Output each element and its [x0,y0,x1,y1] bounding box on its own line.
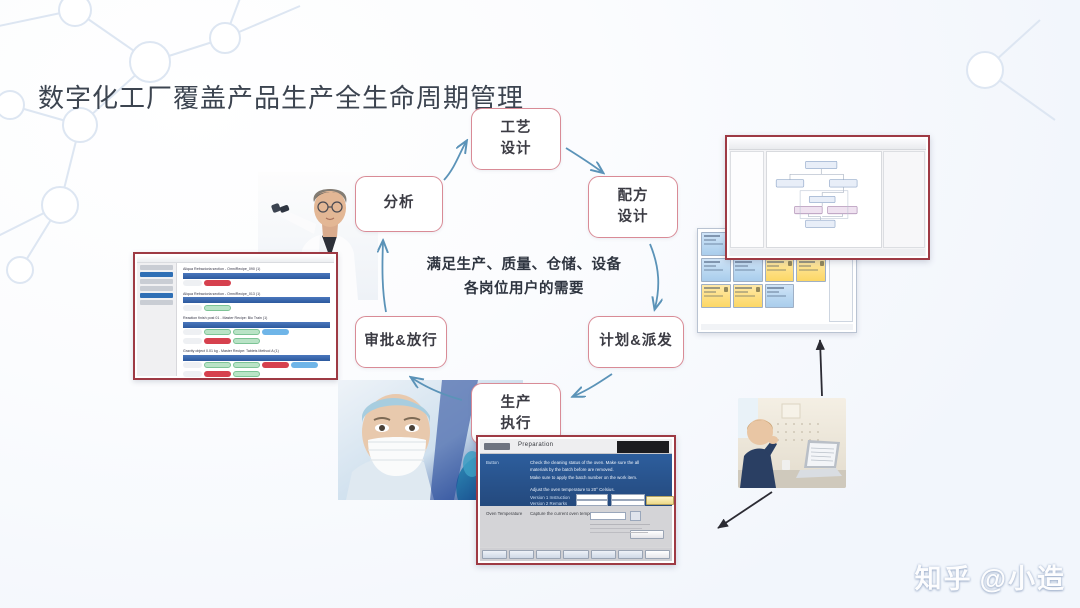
table-row[interactable] [183,280,330,287]
button-comment[interactable] [591,550,616,559]
cycle-box-line1: 计划&派发 [599,331,672,352]
sidebar-row[interactable] [140,286,173,291]
batch-review-group: Aliqua Refractoria section - OmniRecipe_… [183,292,330,312]
preparation-window-body: Preparation Button Check the cleaning st… [480,439,672,561]
workflow-statusbar [730,249,925,256]
center-caption-line2: 各岗位用户的需要 [404,278,644,302]
status-badge-red [262,362,289,368]
cycle-box-line2: 设计 [501,139,532,160]
instruction-paragraph: Make sure to apply the batch number on t… [530,474,648,481]
workflow-properties-panel[interactable] [883,151,925,248]
window-titlebar [137,256,334,263]
cycle-box-line2: 设计 [618,207,649,228]
table-header [183,322,330,328]
dashboard-card[interactable] [733,258,763,282]
row-label-cell [183,338,202,344]
row-label-cell [183,280,202,286]
status-badge-green [291,379,318,380]
cycle-box-plan-dispatch[interactable]: 计划&派发 [588,316,684,368]
app-sidebar[interactable] [137,263,177,376]
button-sign-off[interactable] [618,550,643,559]
preparation-temperature-panel: Oven Temperature Capture the current ove… [480,506,672,547]
row-label-cell [183,362,202,368]
field-label: Version 1 Instruction [530,495,570,500]
cycle-box-approve-release[interactable]: 审批&放行 [355,316,447,368]
cycle-box-line1: 工艺 [501,118,532,139]
office-user-photo [738,398,846,488]
table-row[interactable] [183,304,330,311]
workflow-canvas[interactable] [766,151,882,248]
slide-canvas: 数字化工厂覆盖产品生产全生命周期管理 工艺 设计 配 [0,0,1080,608]
row-label-cell [183,371,202,377]
table-header [183,355,330,361]
table-row[interactable] [183,379,330,381]
workflow-titlebar [729,139,926,150]
sidebar-row[interactable] [140,265,173,270]
watermark-brand: 知乎 [915,557,973,596]
status-badge-green [204,329,231,335]
row-label-cell [183,379,202,380]
status-badge-green [204,379,231,380]
cycle-box-line2: 执行 [501,414,532,435]
group-caption: Reaction finish post 01 - Master Recipe:… [183,316,330,320]
status-badge-green [233,371,260,377]
button-sampling[interactable] [509,550,534,559]
cycle-box-recipe-design[interactable]: 配方 设计 [588,176,678,238]
dashboard-card[interactable] [701,258,731,282]
status-badge-green [233,379,260,380]
divider [590,528,642,529]
cycle-box-analysis[interactable]: 分析 [355,176,443,232]
preparation-button-row [480,548,672,561]
vendor-logo [484,443,510,450]
cycle-box-line1: 生产 [501,393,532,414]
sidebar-row[interactable] [140,300,173,305]
status-badge-green [204,362,231,368]
status-badge-green [233,362,260,368]
center-caption: 满足生产、质量、仓储、设备 各岗位用户的需要 [404,254,644,302]
preparation-instruction-panel: Button Check the cleaning status of the … [480,454,672,506]
watermark-handle: @小造 [980,557,1066,596]
group-caption: Aliqua Refractoria section - OmniRecipe_… [183,267,330,271]
instruction-paragraph: Check the cleaning status of the oven. M… [530,459,648,473]
preparation-window-title: Preparation [518,442,553,448]
row-label-cell [183,305,202,311]
group-caption: Gravity object 0.01 kg - Master Recipe: … [183,349,330,353]
group-caption: Aliqua Refractoria section - OmniRecipe_… [183,292,330,296]
page-title: 数字化工厂覆盖产品生产全生命周期管理 [38,78,524,115]
workflow-window-body [729,139,926,256]
status-badge-green [233,338,260,344]
instruction-paragraph: Adjust the oven temperature to 20° Celsi… [530,486,648,493]
titlebar-dark-panel [617,441,669,453]
section-label: Button [486,460,499,465]
sidebar-row[interactable] [140,279,173,284]
dashboard-card[interactable] [765,284,795,308]
batch-review-group: Gravity object 0.01 kg - Master Recipe: … [183,349,330,380]
button-print-cover[interactable] [645,550,670,559]
cycle-box-line1: 配方 [618,186,649,207]
temperature-input[interactable] [590,512,626,520]
dashboard-statusbar [701,324,853,330]
unit-selector[interactable] [630,511,641,521]
button-workflow[interactable] [563,550,588,559]
status-badge-blue [262,329,289,335]
sidebar-row-selected[interactable] [140,272,173,277]
temperature-label: Oven Temperature [486,511,522,516]
table-row[interactable] [183,362,330,369]
table-header [183,273,330,279]
center-caption-line1: 满足生产、质量、仓储、设备 [404,254,644,278]
status-badge-red [204,338,231,344]
sidebar-row-selected[interactable] [140,293,173,298]
table-header [183,297,330,303]
batch-review-group: Aliqua Refractoria section - OmniRecipe_… [183,267,330,287]
status-badge-red [204,280,231,286]
status-badge-blue [291,362,318,368]
preparation-hmi-screenshot[interactable]: Preparation Button Check the cleaning st… [476,435,676,565]
divider [590,524,650,525]
status-badge-green [262,379,289,380]
cycle-box-line1: 审批&放行 [364,331,437,352]
batch-review-screenshot[interactable]: Aliqua Refractoria section - OmniRecipe_… [133,252,338,380]
workflow-designer-screenshot[interactable] [725,135,930,260]
status-badge-red [204,371,231,377]
dashboard-card-alert[interactable] [733,284,763,308]
confirm-button[interactable] [646,496,674,505]
watermark: 知乎 @小造 [915,557,1066,596]
batch-review-group: Reaction finish post 01 - Master Recipe:… [183,316,330,344]
cycle-box-process-design[interactable]: 工艺 设计 [471,108,561,170]
batch-review-content: Aliqua Refractoria section - OmniRecipe_… [179,264,334,376]
status-badge-green [204,305,231,311]
button-documents[interactable] [482,550,507,559]
table-row[interactable] [183,370,330,377]
dashboard-card-alert[interactable] [796,258,826,282]
dashboard-card-alert[interactable] [765,258,795,282]
table-row[interactable] [183,329,330,336]
preparation-titlebar: Preparation [480,439,672,454]
button-dispensing[interactable] [536,550,561,559]
status-badge-green [233,329,260,335]
dashboard-card-empty [796,284,826,308]
workflow-tree-panel[interactable] [730,151,764,248]
row-label-cell [183,329,202,335]
dashboard-card-alert[interactable] [701,284,731,308]
cycle-box-line1: 分析 [384,193,415,214]
divider [590,532,648,533]
table-row[interactable] [183,337,330,344]
